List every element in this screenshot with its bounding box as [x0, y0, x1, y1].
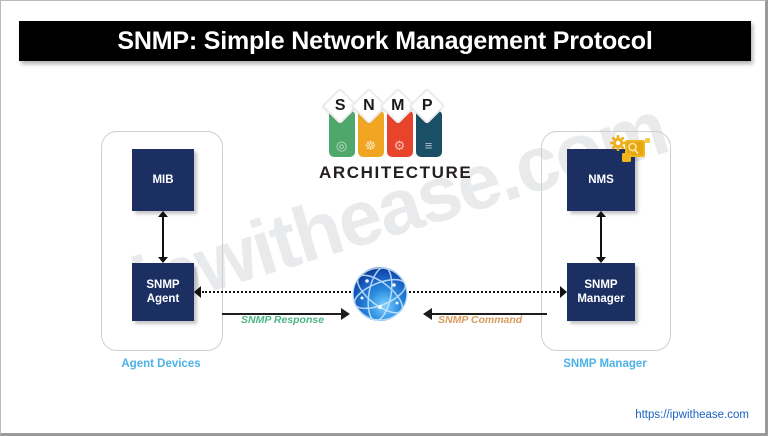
logo-glyph-n: ☸: [365, 139, 377, 152]
logo-glyph-m: ⚙: [394, 139, 406, 152]
logo-glyph-s: ◎: [336, 139, 347, 152]
node-snmp-agent-label: SNMP Agent: [146, 278, 179, 307]
logo-letter-p: P: [421, 98, 432, 114]
network-globe-icon: [349, 263, 411, 325]
page-title: SNMP: Simple Network Management Protocol: [117, 27, 652, 56]
snmp-command-label: SNMP Command: [438, 314, 522, 326]
logo-letter-badge-p: P: [408, 88, 445, 125]
connector-mib-to-agent: [156, 211, 170, 263]
snmp-manager-caption: SNMP Manager: [541, 358, 669, 370]
arrow-head-right-icon: [560, 286, 567, 298]
node-snmp-manager-label: SNMP Manager: [577, 278, 624, 307]
diagram-canvas: ipwithease.com SNMP: Simple Network Mana…: [0, 0, 768, 436]
footer-url[interactable]: https://ipwithease.com: [635, 409, 749, 421]
node-mib: MIB: [132, 149, 194, 211]
arrow-head-down-icon: [158, 257, 168, 263]
snmp-response-label: SNMP Response: [241, 314, 324, 326]
gear-settings-icon: [605, 131, 653, 175]
logo-tag-s: S ◎: [329, 111, 355, 157]
logo-tag-n: N ☸: [358, 111, 384, 157]
logo-letter-n: N: [363, 98, 375, 114]
agent-devices-caption: Agent Devices: [101, 358, 221, 370]
node-snmp-agent: SNMP Agent: [132, 263, 194, 321]
connector-nms-to-manager: [594, 211, 608, 263]
arrow-head-down-icon: [596, 257, 606, 263]
logo-tag-row: S ◎ N ☸ M ⚙ P ≡: [319, 95, 451, 157]
title-banner: SNMP: Simple Network Management Protocol: [19, 21, 751, 61]
logo-tag-p: P ≡: [416, 111, 442, 157]
arrow-head-left-icon: [194, 286, 201, 298]
connector-stem: [162, 216, 164, 258]
node-snmp-manager: SNMP Manager: [567, 263, 635, 321]
logo-letter-s: S: [334, 98, 345, 114]
logo-glyph-p: ≡: [425, 139, 433, 152]
logo-caption: ARCHITECTURE: [319, 163, 451, 183]
connector-stem: [600, 216, 602, 258]
node-mib-label: MIB: [152, 173, 173, 187]
logo-letter-m: M: [391, 98, 404, 114]
logo-tag-m: M ⚙: [387, 111, 413, 157]
snmp-logo: S ◎ N ☸ M ⚙ P ≡ A: [319, 95, 451, 183]
